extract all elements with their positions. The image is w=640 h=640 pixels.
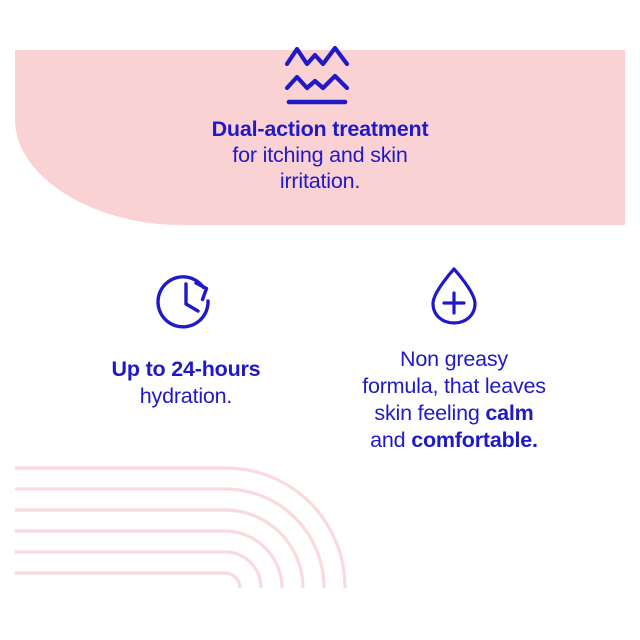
- feature-nongreasy-text: Non greasy formula, that leaves skin fee…: [362, 346, 546, 454]
- decor-arc-3: [15, 510, 303, 588]
- feature-row: Up to 24-hours hydration. Non greasy for…: [0, 252, 640, 454]
- decor-arc-1: [15, 468, 345, 588]
- feature-nongreasy-line4-bold: comfortable.: [411, 428, 538, 452]
- feature-nongreasy-line2: formula, that leaves: [362, 374, 546, 398]
- top-headline-bold: Dual-action treatment: [212, 117, 429, 141]
- decor-arc-5: [15, 552, 261, 588]
- top-headline-line1: for itching and skin: [232, 143, 407, 167]
- top-panel-content: Dual-action treatment for itching and sk…: [0, 0, 640, 240]
- top-headline: Dual-action treatment for itching and sk…: [212, 116, 429, 195]
- feature-hydration: Up to 24-hours hydration.: [52, 252, 320, 410]
- top-pink-panel: Dual-action treatment for itching and sk…: [0, 0, 640, 240]
- feature-hydration-icon-wrap: [153, 268, 219, 340]
- decor-arc-2: [15, 489, 324, 588]
- double-wave-icon: [283, 44, 357, 106]
- clock-arrow-icon: [153, 271, 219, 337]
- feature-nongreasy: Non greasy formula, that leaves skin fee…: [320, 252, 588, 454]
- top-headline-line2: irritation.: [280, 169, 360, 193]
- feature-nongreasy-icon-wrap: [429, 260, 479, 332]
- decor-arc-6: [15, 573, 240, 588]
- feature-hydration-bold: Up to 24-hours: [112, 357, 261, 381]
- feature-nongreasy-line4-plain: and: [370, 428, 411, 452]
- feature-hydration-rest: hydration.: [140, 384, 232, 408]
- feature-hydration-text: Up to 24-hours hydration.: [112, 356, 261, 410]
- promo-poster: Dual-action treatment for itching and sk…: [0, 0, 640, 640]
- feature-nongreasy-line3-plain: skin feeling: [374, 401, 485, 425]
- decor-arc-4: [15, 531, 282, 588]
- droplet-plus-icon: [429, 265, 479, 327]
- feature-nongreasy-line1: Non greasy: [400, 347, 508, 371]
- feature-nongreasy-line3-bold: calm: [485, 401, 533, 425]
